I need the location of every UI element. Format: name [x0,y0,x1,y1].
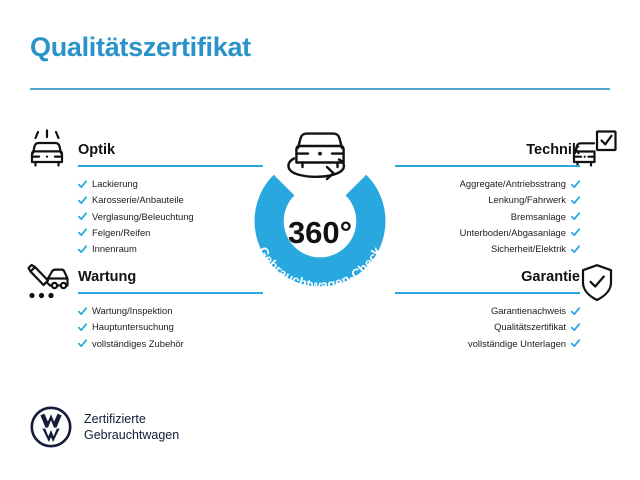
check-icon [78,228,87,237]
section-wartung-list: Wartung/Inspektion Hauptuntersuchung vol… [78,303,263,352]
list-item: Aggregate/Antriebsstrang [395,176,580,192]
list-item-label: Wartung/Inspektion [92,303,172,319]
badge-360-gebrauchtwagen-check: 360° Gebrauchtwagen-Check [232,113,408,309]
footer-line-1: Zertifizierte [84,412,146,426]
shield-check-icon [580,263,614,308]
list-item-label: Bremsanlage [511,209,566,225]
list-item-label: Verglasung/Beleuchtung [92,209,194,225]
check-icon [78,245,87,254]
section-garantie: Garantie Garantienachweis Qualitätszerti… [395,270,580,352]
list-item: Bremsanlage [395,209,580,225]
list-item: Garantienachweis [395,303,580,319]
section-technik-heading: Technik [395,143,580,158]
check-icon [571,323,580,332]
check-icon [78,307,87,316]
list-item: Unterboden/Abgasanlage [395,225,580,241]
badge-center-label: 360° [288,215,352,250]
volkswagen-logo [30,406,72,448]
list-item-label: Innenraum [92,241,137,257]
list-item: Hauptuntersuchung [78,319,263,335]
list-item: vollständiges Zubehör [78,336,263,352]
section-garantie-list: Garantienachweis Qualitätszertifikat vol… [395,303,580,352]
list-item-label: Lenkung/Fahrwerk [488,192,566,208]
check-icon [571,180,580,189]
list-item: vollständige Unterlagen [395,336,580,352]
check-icon [571,196,580,205]
car-shine-icon [26,129,68,174]
car-rotation-icon [288,134,344,179]
list-item: Qualitätszertifikat [395,319,580,335]
list-item-label: Felgen/Reifen [92,225,150,241]
check-icon [78,323,87,332]
section-technik-divider [395,165,580,167]
check-icon [571,307,580,316]
footer-line-2: Gebrauchtwagen [84,428,179,442]
check-icon [571,228,580,237]
list-item-label: Qualitätszertifikat [494,319,566,335]
list-item-label: Aggregate/Antriebsstrang [460,176,566,192]
section-technik: Technik Aggregate/Antriebsstrang Lenkung… [395,143,580,257]
list-item: Sicherheit/Elektrik [395,241,580,257]
section-technik-list: Aggregate/Antriebsstrang Lenkung/Fahrwer… [395,176,580,257]
section-garantie-heading: Garantie [395,270,580,285]
check-icon [78,196,87,205]
list-item-label: vollständiges Zubehör [92,336,184,352]
title-divider [30,88,610,90]
footer-brand-text: Zertifizierte Gebrauchtwagen [84,411,179,444]
list-item-label: Unterboden/Abgasanlage [460,225,566,241]
check-icon [78,339,87,348]
check-icon [571,245,580,254]
list-item-label: Hauptuntersuchung [92,319,174,335]
check-icon [571,212,580,221]
list-item-label: Lackierung [92,176,138,192]
page-title: Qualitätszertifikat [30,32,251,63]
list-item-label: Karosserie/Anbauteile [92,192,184,208]
check-icon [571,339,580,348]
list-item: Lenkung/Fahrwerk [395,192,580,208]
list-item-label: Sicherheit/Elektrik [491,241,566,257]
list-item-label: vollständige Unterlagen [468,336,566,352]
list-item-label: Garantienachweis [491,303,566,319]
section-garantie-divider [395,292,580,294]
car-service-pen-icon [26,263,70,308]
footer-brand: Zertifizierte Gebrauchtwagen [30,406,179,448]
check-icon [78,180,87,189]
certificate-page: Qualitätszertifikat Optik Lackierung [0,0,640,480]
check-icon [78,212,87,221]
